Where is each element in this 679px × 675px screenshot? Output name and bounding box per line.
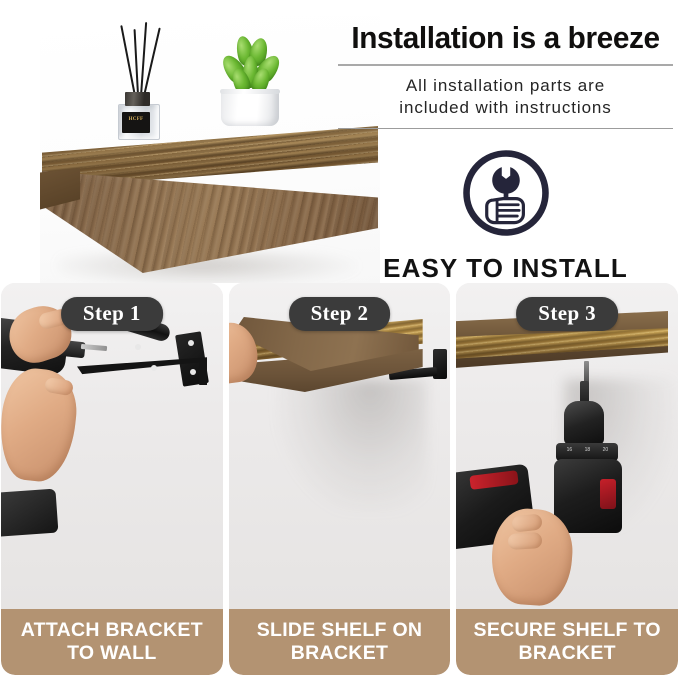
diffuser-label: HCFF [122,112,150,133]
diffuser-sublabel [122,124,150,127]
step-caption-1-text: ATTACH BRACKET TO WALL [21,619,203,665]
mounting-screw [584,361,589,383]
white-ceramic-pot [221,89,279,126]
drill-battery-pack [1,489,58,538]
step-2-photo: Step 2 [229,283,451,609]
easy-install-caption: EASY TO INSTALL [338,253,673,284]
page-title: Installation is a breeze [345,22,667,53]
reed-diffuser-bottle: HCFF [116,84,160,139]
step-caption-1-line2: TO WALL [67,642,156,664]
potted-succulent-plant [205,34,295,126]
bracket-screw-hole [188,340,194,346]
step-caption-2-text: SLIDE SHELF ON BRACKET [257,619,423,665]
wall-shadow [277,379,427,511]
finger [508,532,543,550]
installation-steps-row: Step 1 ATTACH BRACKET TO WALL Step 2 SLI… [0,283,679,675]
diffuser-brand-text: HCFF [122,117,150,122]
divider-rule-bottom [338,128,673,130]
step-1-photo: Step 1 [1,283,223,609]
step-caption-2-line2: BRACKET [291,642,388,664]
subtitle-line-2: included with instructions [338,97,673,119]
hero-section: HCFF Installation is a breeze All instal… [0,0,679,283]
step-card-1: Step 1 ATTACH BRACKET TO WALL [1,283,223,675]
step-caption-2: SLIDE SHELF ON BRACKET [229,609,451,675]
subtitle-line-1: All installation parts are [338,75,673,97]
step-caption-3: SECURE SHELF TO BRACKET [456,609,678,675]
step-caption-2-line1: SLIDE SHELF ON [257,619,423,641]
product-hero-photo: HCFF [40,16,380,286]
step-card-3: 161820 Step 3 SECURE SHELF TO BRACKET [456,283,678,675]
step-caption-3-text: SECURE SHELF TO BRACKET [474,619,661,665]
step-caption-3-line2: BRACKET [518,642,615,664]
easy-install-block: EASY TO INSTALL [338,146,673,284]
step-caption-1-line1: ATTACH BRACKET [21,619,203,641]
drill-red-accent [600,479,616,509]
bracket-screw-hole [190,369,196,375]
step-badge-3: Step 3 [516,297,618,331]
diffuser-neck-collar [125,92,150,106]
headline-block: Installation is a breeze All installatio… [338,22,673,129]
step-caption-3-line1: SECURE SHELF TO [474,619,661,641]
bracket-screw-hole [135,344,141,350]
drill-chuck [564,401,604,445]
step-3-photo: 161820 Step 3 [456,283,678,609]
step-badge-1: Step 1 [61,297,163,331]
hand-holding-wrench-icon [459,146,553,240]
step-badge-2: Step 2 [289,297,391,331]
drill-torque-numbers: 161820 [560,447,614,453]
step-caption-1: ATTACH BRACKET TO WALL [1,609,223,675]
divider-rule-top [338,64,673,66]
step-card-2: Step 2 SLIDE SHELF ON BRACKET [229,283,451,675]
bracket-screw-hole [151,365,157,371]
